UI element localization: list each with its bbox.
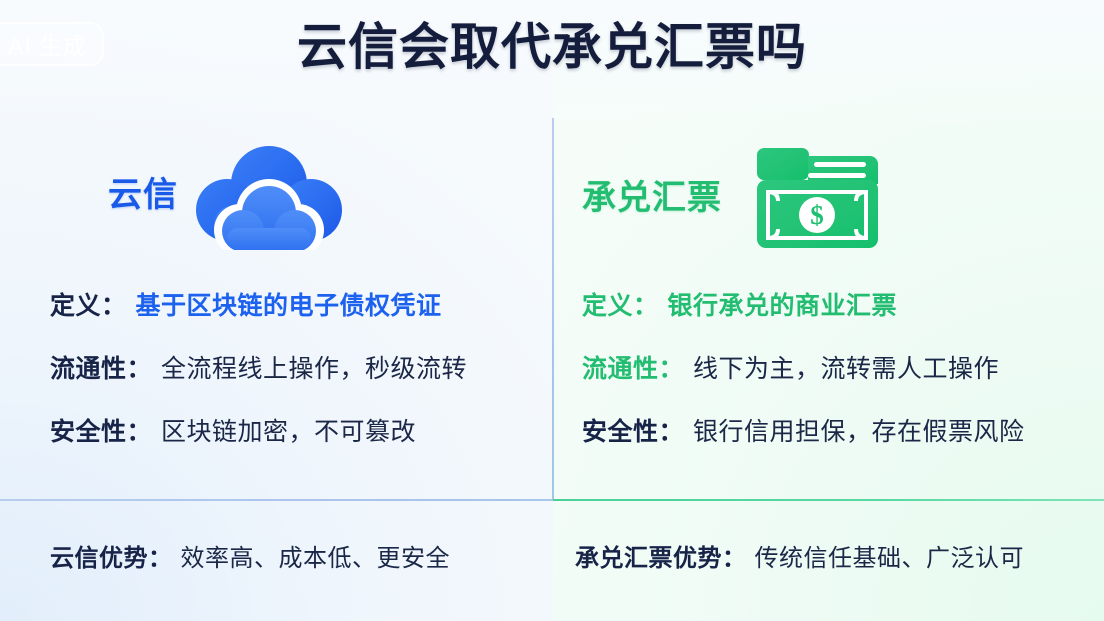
table-row: 安全性： 区块链加密，不可篡改 bbox=[50, 398, 540, 461]
left-column-rows: 定义： 基于区块链的电子债权凭证 流通性： 全流程线上操作，秒级流转 安全性： … bbox=[50, 272, 540, 461]
right-column-heading: 承兑汇票 bbox=[582, 148, 722, 248]
right-column-header: 承兑汇票 bbox=[582, 140, 882, 255]
row-value: 基于区块链的电子债权凭证 bbox=[136, 286, 442, 322]
left-column-header: 云信 bbox=[108, 140, 344, 250]
vertical-divider bbox=[552, 118, 554, 500]
right-column-rows: 定义： 银行承兑的商业汇票 流通性： 线下为主，流转需人工操作 安全性： 银行信… bbox=[582, 272, 1082, 461]
right-summary: 承兑汇票优势： 传统信任基础、广泛认可 bbox=[575, 538, 1024, 573]
table-row: 安全性： 银行信用担保，存在假票风险 bbox=[582, 398, 1082, 461]
folder-money-icon: $ bbox=[752, 140, 882, 255]
row-label: 安全性： bbox=[582, 412, 684, 448]
svg-text:$: $ bbox=[810, 200, 824, 230]
row-value: 银行信用担保，存在假票风险 bbox=[693, 412, 1025, 448]
page-title: 云信会取代承兑汇票吗 bbox=[0, 14, 1104, 80]
horizontal-divider-right bbox=[553, 499, 1104, 501]
row-value: 银行承兑的商业汇票 bbox=[668, 286, 898, 322]
left-summary-label: 云信优势： bbox=[50, 538, 173, 573]
left-summary-value: 效率高、成本低、更安全 bbox=[181, 538, 451, 573]
row-label: 定义： bbox=[582, 286, 659, 322]
table-row: 定义： 基于区块链的电子债权凭证 bbox=[50, 272, 540, 335]
row-value: 线下为主，流转需人工操作 bbox=[693, 349, 999, 385]
row-value: 区块链加密，不可篡改 bbox=[161, 412, 416, 448]
table-row: 定义： 银行承兑的商业汇票 bbox=[582, 272, 1082, 335]
left-summary: 云信优势： 效率高、成本低、更安全 bbox=[50, 538, 450, 573]
left-column-heading: 云信 bbox=[108, 145, 178, 245]
row-label: 安全性： bbox=[50, 412, 152, 448]
table-row: 流通性： 全流程线上操作，秒级流转 bbox=[50, 335, 540, 398]
horizontal-divider-left bbox=[0, 499, 553, 501]
row-label: 流通性： bbox=[582, 349, 684, 385]
row-label: 定义： bbox=[50, 286, 127, 322]
row-label: 流通性： bbox=[50, 349, 152, 385]
cloud-icon bbox=[194, 140, 344, 250]
right-summary-label: 承兑汇票优势： bbox=[575, 538, 747, 573]
table-row: 流通性： 线下为主，流转需人工操作 bbox=[582, 335, 1082, 398]
infographic-slide: AI 生成 云信会取代承兑汇票吗 云信 bbox=[0, 0, 1104, 621]
row-value: 全流程线上操作，秒级流转 bbox=[161, 349, 467, 385]
right-summary-value: 传统信任基础、广泛认可 bbox=[755, 538, 1025, 573]
